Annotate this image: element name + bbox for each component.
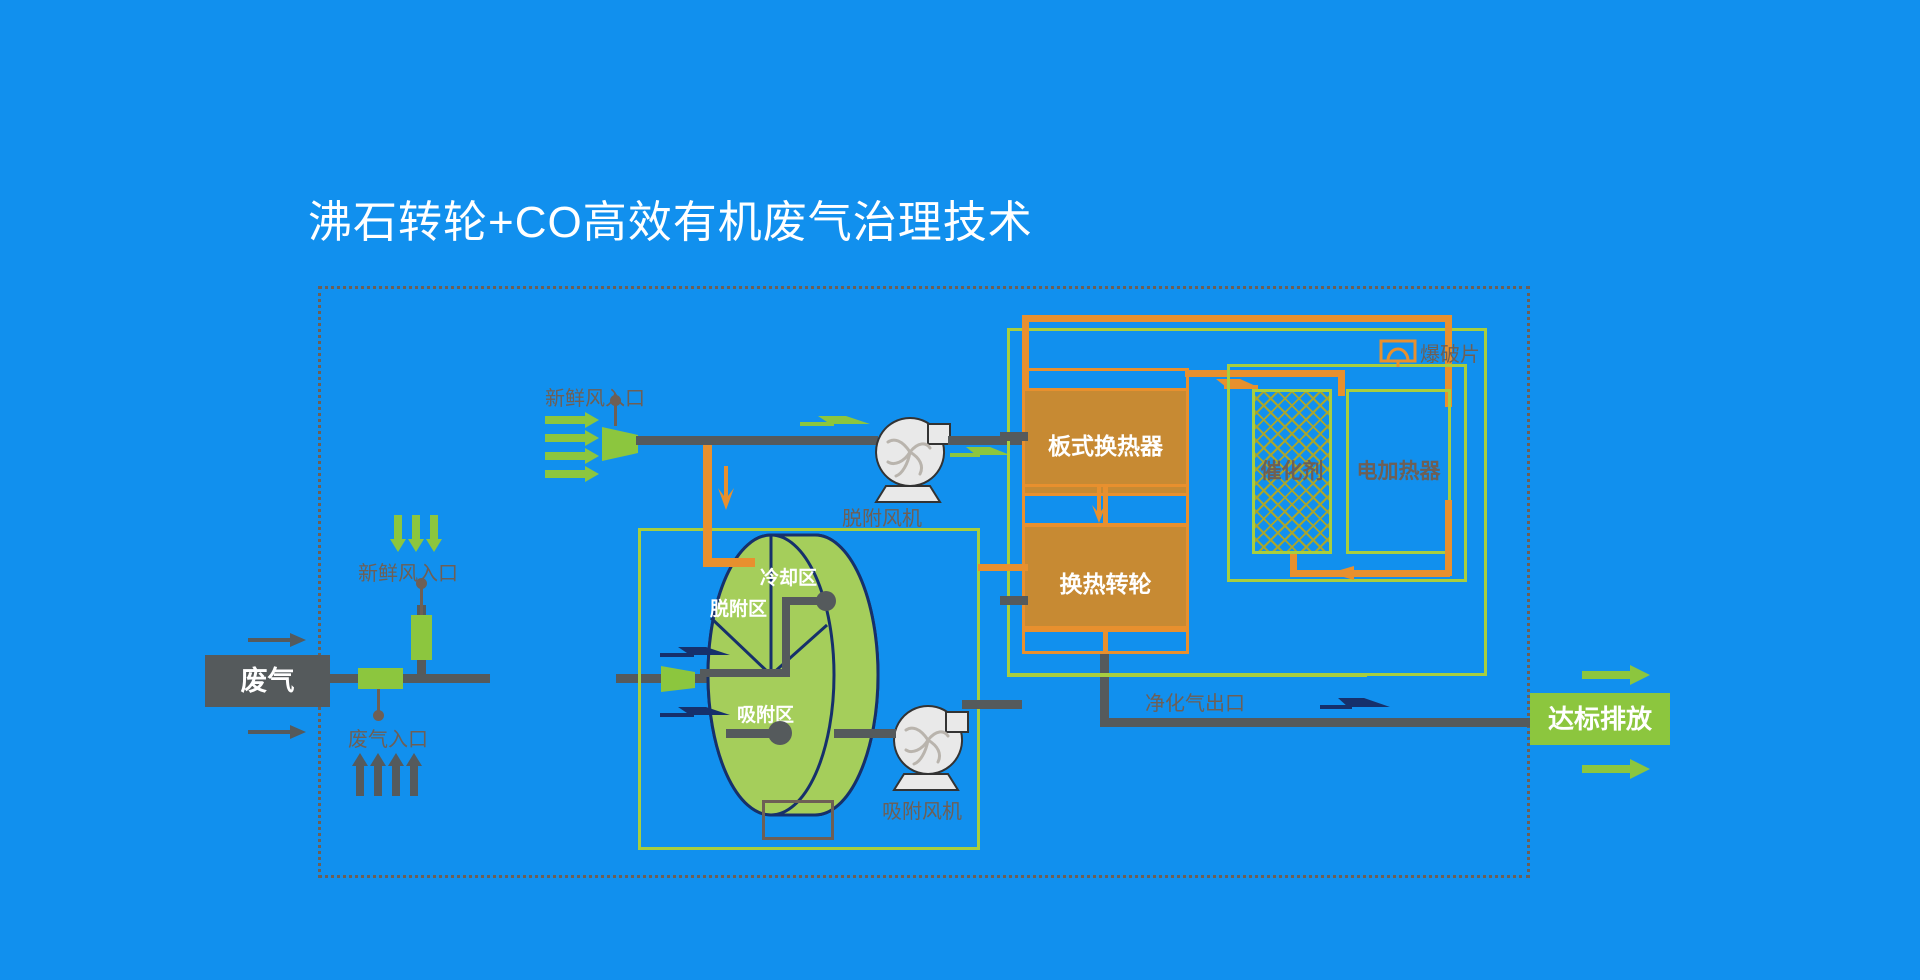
electric-heater-label: 电加热器 — [1346, 455, 1451, 485]
plate-heat-exchanger-label: 板式换热器 — [1025, 427, 1186, 461]
rotor-cooling-port — [816, 591, 836, 611]
diagram-canvas: 沸石转轮+CO高效有机废气治理技术 废气 废气入口 新鲜风入口 — [0, 0, 1920, 980]
fresh-air-left-damper[interactable] — [411, 615, 432, 660]
flow-arrow-navy-outlet — [1320, 695, 1390, 713]
catalyst-label: 催化剂 — [1252, 455, 1332, 485]
rotor-zone-desorption-label: 脱附区 — [710, 594, 767, 621]
pipe-gray-stub-hx-lower — [1000, 596, 1028, 605]
plate-hx-internal-flow-arrow — [1092, 487, 1106, 523]
discharge-arrow-bottom — [1582, 758, 1652, 780]
purified-gas-outlet-label: 净化气出口 — [1145, 687, 1245, 716]
compliant-discharge-box: 达标排放 — [1530, 693, 1670, 745]
flow-arrow-green-desorption-out — [950, 445, 1010, 463]
waste-gas-in-arrow-top — [248, 630, 308, 650]
green-frame-lower-run — [1007, 673, 1367, 677]
adsorption-fan-label: 吸附风机 — [882, 795, 962, 824]
pipe-orange-into-rotor-desorption — [703, 558, 755, 567]
heat-exchange-rotor-body: 换热转轮 — [1022, 524, 1189, 632]
adsorption-fan-icon[interactable] — [890, 700, 972, 792]
fresh-air-top-damper-knob[interactable] — [610, 395, 621, 406]
fresh-air-left-damper-stem — [420, 585, 423, 615]
pipe-orange-heater-right-v — [1445, 500, 1452, 576]
rotor-cooling-valve[interactable] — [661, 664, 701, 694]
waste-gas-damper-knob[interactable] — [373, 710, 384, 721]
flow-arrow-navy-rotor-low — [660, 705, 730, 723]
flow-arrow-orange-down — [718, 466, 734, 510]
plate-hx-bottom-left — [1022, 626, 1106, 654]
rotor-zone-cooling-label: 冷却区 — [760, 563, 817, 590]
desorption-fan-icon[interactable] — [872, 412, 954, 504]
rupture-disc-icon[interactable] — [1380, 338, 1416, 368]
page-title: 沸石转轮+CO高效有机废气治理技术 — [308, 186, 1033, 250]
waste-gas-inlet-label: 废气入口 — [348, 723, 428, 752]
heat-exchange-rotor-label: 换热转轮 — [1025, 565, 1186, 599]
rotor-cooling-duct-v — [782, 597, 790, 677]
pipe-into-rotor-adsorption — [726, 729, 776, 738]
pipe-orange-stub-hx-mid — [978, 564, 1028, 571]
rupture-disc-label: 爆破片 — [1420, 338, 1480, 367]
waste-gas-source-label: 废气 — [205, 655, 330, 707]
rotor-cooling-duct-out — [700, 669, 790, 677]
fresh-air-inlet-top-label: 新鲜风入口 — [545, 382, 645, 411]
pipe-adsorption-fan-out — [962, 700, 1022, 709]
plate-heat-exchanger-body: 板式换热器 — [1022, 388, 1189, 496]
pipe-purified-gas-out — [1100, 718, 1532, 727]
waste-gas-inlet-damper[interactable] — [358, 668, 403, 689]
flow-arrow-navy-rotor-mid — [660, 645, 730, 663]
fresh-air-left-arrows — [390, 515, 452, 553]
pipe-wastegas-to-filter — [330, 674, 490, 683]
flow-arrow-green-desorption-in — [800, 414, 870, 432]
pipe-to-desorption-fan — [636, 436, 878, 445]
compliant-discharge-label: 达标排放 — [1530, 693, 1670, 745]
flow-arrow-orange-bottom-return — [1330, 563, 1388, 581]
waste-gas-inlet-arrows — [352, 752, 422, 796]
pipe-gray-stub-hx-upper — [1000, 432, 1028, 441]
pipe-fresh-air-orange-v — [703, 436, 712, 566]
pipe-hx-down-to-outlet — [1100, 654, 1109, 724]
rotor-base-support — [762, 800, 834, 840]
discharge-arrow-top — [1582, 664, 1652, 686]
pipe-orange-top-loop — [1022, 315, 1452, 322]
plate-hx-bottom-right — [1105, 626, 1189, 654]
waste-gas-source-box: 废气 — [205, 655, 330, 707]
waste-gas-in-arrow-bottom — [248, 722, 308, 742]
desorption-fan-label: 脱附风机 — [842, 502, 922, 531]
fresh-air-top-arrows — [545, 412, 605, 474]
fresh-air-inlet-left-label: 新鲜风入口 — [358, 557, 458, 586]
pipe-rotor-to-adsorption-fan — [834, 729, 896, 738]
plate-hx-mid-right — [1105, 484, 1189, 526]
